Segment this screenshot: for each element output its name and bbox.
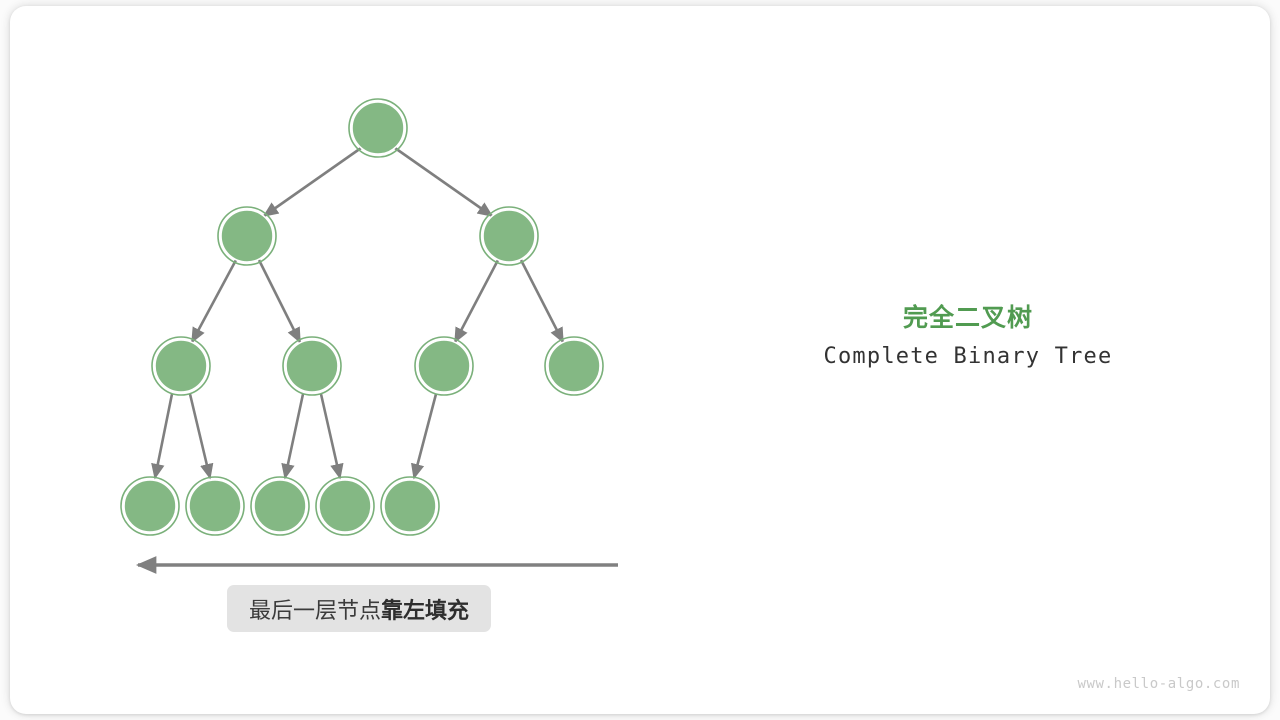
- tree-node[interactable]: [152, 337, 210, 395]
- tree-node[interactable]: [381, 477, 439, 535]
- tree-edge: [192, 260, 236, 342]
- caption-text: 最后一层节点靠左填充: [249, 593, 469, 625]
- screenshot-root: 完全二叉树 Complete Binary Tree 最后一层节点靠左填充 ww…: [0, 0, 1280, 720]
- tree-edge: [285, 394, 303, 478]
- tree-node[interactable]: [545, 337, 603, 395]
- tree-node[interactable]: [283, 337, 341, 395]
- tree-node[interactable]: [186, 477, 244, 535]
- tree-node[interactable]: [480, 207, 538, 265]
- tree-node[interactable]: [251, 477, 309, 535]
- tree-node[interactable]: [121, 477, 179, 535]
- tree-edge: [521, 260, 563, 342]
- tree-edge: [264, 148, 361, 216]
- tree-edge: [414, 394, 436, 478]
- tree-edge: [155, 394, 172, 478]
- page-title: 完全二叉树: [768, 298, 1168, 334]
- caption-emphasis: 靠左填充: [381, 598, 469, 623]
- watermark: www.hello-algo.com: [1000, 676, 1240, 692]
- tree-edge-group: [155, 148, 563, 478]
- caption-prefix: 最后一层节点: [249, 598, 381, 623]
- tree-node[interactable]: [218, 207, 276, 265]
- page-subtitle: Complete Binary Tree: [768, 344, 1168, 369]
- tree-edge: [321, 394, 340, 478]
- tree-edge: [395, 148, 492, 216]
- tree-edge: [190, 394, 210, 478]
- tree-node[interactable]: [316, 477, 374, 535]
- tree-edge: [259, 260, 300, 342]
- tree-edge: [455, 260, 498, 342]
- tree-node[interactable]: [349, 99, 407, 157]
- tree-node[interactable]: [415, 337, 473, 395]
- caption-badge: 最后一层节点靠左填充: [227, 585, 491, 632]
- tree-node-group: [121, 99, 603, 535]
